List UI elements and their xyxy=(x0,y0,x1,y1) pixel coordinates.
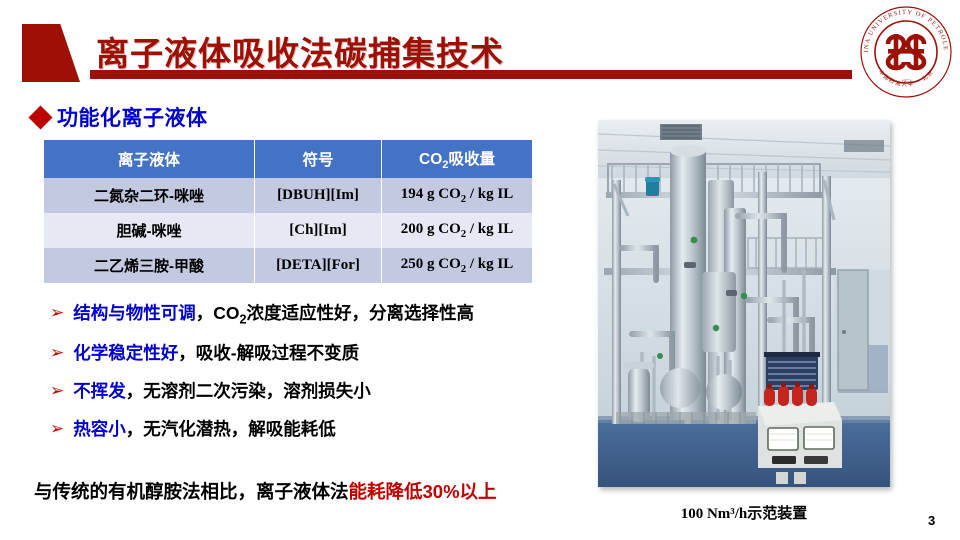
page-title: 离子液体吸收法碳捕集技术 xyxy=(96,27,504,75)
ionic-liquid-table: 离子液体 符号 CO2吸收量 二氮杂二环-咪唑 [DBUH][Im] 194 g… xyxy=(44,140,532,283)
list-item: ➢ 化学稳定性好，吸收-解吸过程不变质 xyxy=(50,340,570,365)
list-item-label: 结构与物性可调，CO2浓度适应性好，分离选择性高 xyxy=(73,300,474,327)
table-row: 胆碱-咪唑 [Ch][Im] 200 g CO2 / kg IL xyxy=(44,213,532,248)
feature-bullet-list: ➢ 结构与物性可调，CO2浓度适应性好，分离选择性高 ➢ 化学稳定性好，吸收-解… xyxy=(50,300,570,454)
col1-text: 符号 xyxy=(302,152,333,169)
blt1-pre: ，吸收-解吸过程不变质 xyxy=(178,343,359,363)
blt0-pre: ，CO xyxy=(196,303,240,323)
blt2-pre: ，无溶剂二次污染，溶剂损失小 xyxy=(126,381,371,401)
cap0-post: / kg IL xyxy=(466,186,513,202)
cap1-post: / kg IL xyxy=(466,221,513,237)
cell-capacity: 200 g CO2 / kg IL xyxy=(382,213,533,248)
arrow-bullet-icon: ➢ xyxy=(50,344,64,361)
cell-name: 二氮杂二环-咪唑 xyxy=(44,178,255,213)
cell-symbol: [Ch][Im] xyxy=(255,213,382,248)
cell-symbol: [DETA][For] xyxy=(255,248,382,283)
cap0-pre: 194 g CO xyxy=(401,186,461,202)
list-item-label: 热容小，无汽化潜热，解吸能耗低 xyxy=(73,416,336,441)
blt2-hl: 不挥发 xyxy=(73,381,126,401)
column-header-symbol: 符号 xyxy=(255,140,382,178)
header-accent-shape xyxy=(22,24,80,82)
cap2-pre: 250 g CO xyxy=(401,256,461,272)
title-underline-bar xyxy=(90,70,852,79)
section-heading: 功能化离子液体 xyxy=(32,102,208,132)
cell-name: 二乙烯三胺-甲酸 xyxy=(44,248,255,283)
diamond-bullet-icon xyxy=(28,105,52,129)
cell-capacity: 250 g CO2 / kg IL xyxy=(382,248,533,283)
section-heading-label: 功能化离子液体 xyxy=(57,102,208,132)
photo-caption: 100 Nm³/h示范装置 xyxy=(598,502,890,523)
caption-en: 100 Nm³/h xyxy=(681,506,748,522)
list-item-label: 化学稳定性好，吸收-解吸过程不变质 xyxy=(73,340,359,365)
demonstration-plant-photo xyxy=(598,120,890,487)
caption-cn: 示范装置 xyxy=(747,505,807,522)
svg-text:中国石油大学 · 北京: 中国石油大学 · 北京 xyxy=(877,68,936,88)
blt0-post: 浓度适应性好，分离选择性高 xyxy=(247,303,475,323)
cell-capacity: 194 g CO2 / kg IL xyxy=(382,178,533,213)
blt3-hl: 热容小 xyxy=(73,419,126,439)
col2-post: 吸收量 xyxy=(448,151,495,168)
column-header-co2-capacity: CO2吸收量 xyxy=(382,140,533,178)
conclusion-black: 与传统的有机醇胺法相比，离子液体法 xyxy=(34,481,349,502)
table-row: 二乙烯三胺-甲酸 [DETA][For] 250 g CO2 / kg IL xyxy=(44,248,532,283)
conclusion-highlight: 能耗降低30%以上 xyxy=(349,481,497,502)
university-logo: CHINA UNIVERSITY OF PETROLEUM 中国石油大学 · 北… xyxy=(858,4,954,100)
cap2-post: / kg IL xyxy=(466,256,513,272)
list-item-label: 不挥发，无溶剂二次污染，溶剂损失小 xyxy=(73,378,371,403)
list-item: ➢ 热容小，无汽化潜热，解吸能耗低 xyxy=(50,416,570,441)
cell-name: 胆碱-咪唑 xyxy=(44,213,255,248)
column-header-ionic-liquid: 离子液体 xyxy=(44,140,255,178)
blt3-pre: ，无汽化潜热，解吸能耗低 xyxy=(126,419,336,439)
arrow-bullet-icon: ➢ xyxy=(50,382,64,399)
table-header-row: 离子液体 符号 CO2吸收量 xyxy=(44,140,532,178)
blt0-hl: 结构与物性可调 xyxy=(73,303,196,323)
col0-text: 离子液体 xyxy=(118,152,180,169)
table-row: 二氮杂二环-咪唑 [DBUH][Im] 194 g CO2 / kg IL xyxy=(44,178,532,213)
cell-symbol: [DBUH][Im] xyxy=(255,178,382,213)
slide: 离子液体吸收法碳捕集技术 CHINA UNIVERSITY OF PETROLE… xyxy=(0,0,960,540)
cap1-pre: 200 g CO xyxy=(401,221,461,237)
list-item: ➢ 不挥发，无溶剂二次污染，溶剂损失小 xyxy=(50,378,570,403)
arrow-bullet-icon: ➢ xyxy=(50,420,64,437)
col2-pre: CO xyxy=(419,151,442,168)
blt1-hl: 化学稳定性好 xyxy=(73,343,178,363)
page-number: 3 xyxy=(928,513,935,528)
arrow-bullet-icon: ➢ xyxy=(50,304,64,321)
list-item: ➢ 结构与物性可调，CO2浓度适应性好，分离选择性高 xyxy=(50,300,570,327)
conclusion-text: 与传统的有机醇胺法相比，离子液体法能耗降低30%以上 xyxy=(34,478,497,504)
blt0-sub: 2 xyxy=(240,313,247,327)
svg-text:1953: 1953 xyxy=(901,80,912,85)
